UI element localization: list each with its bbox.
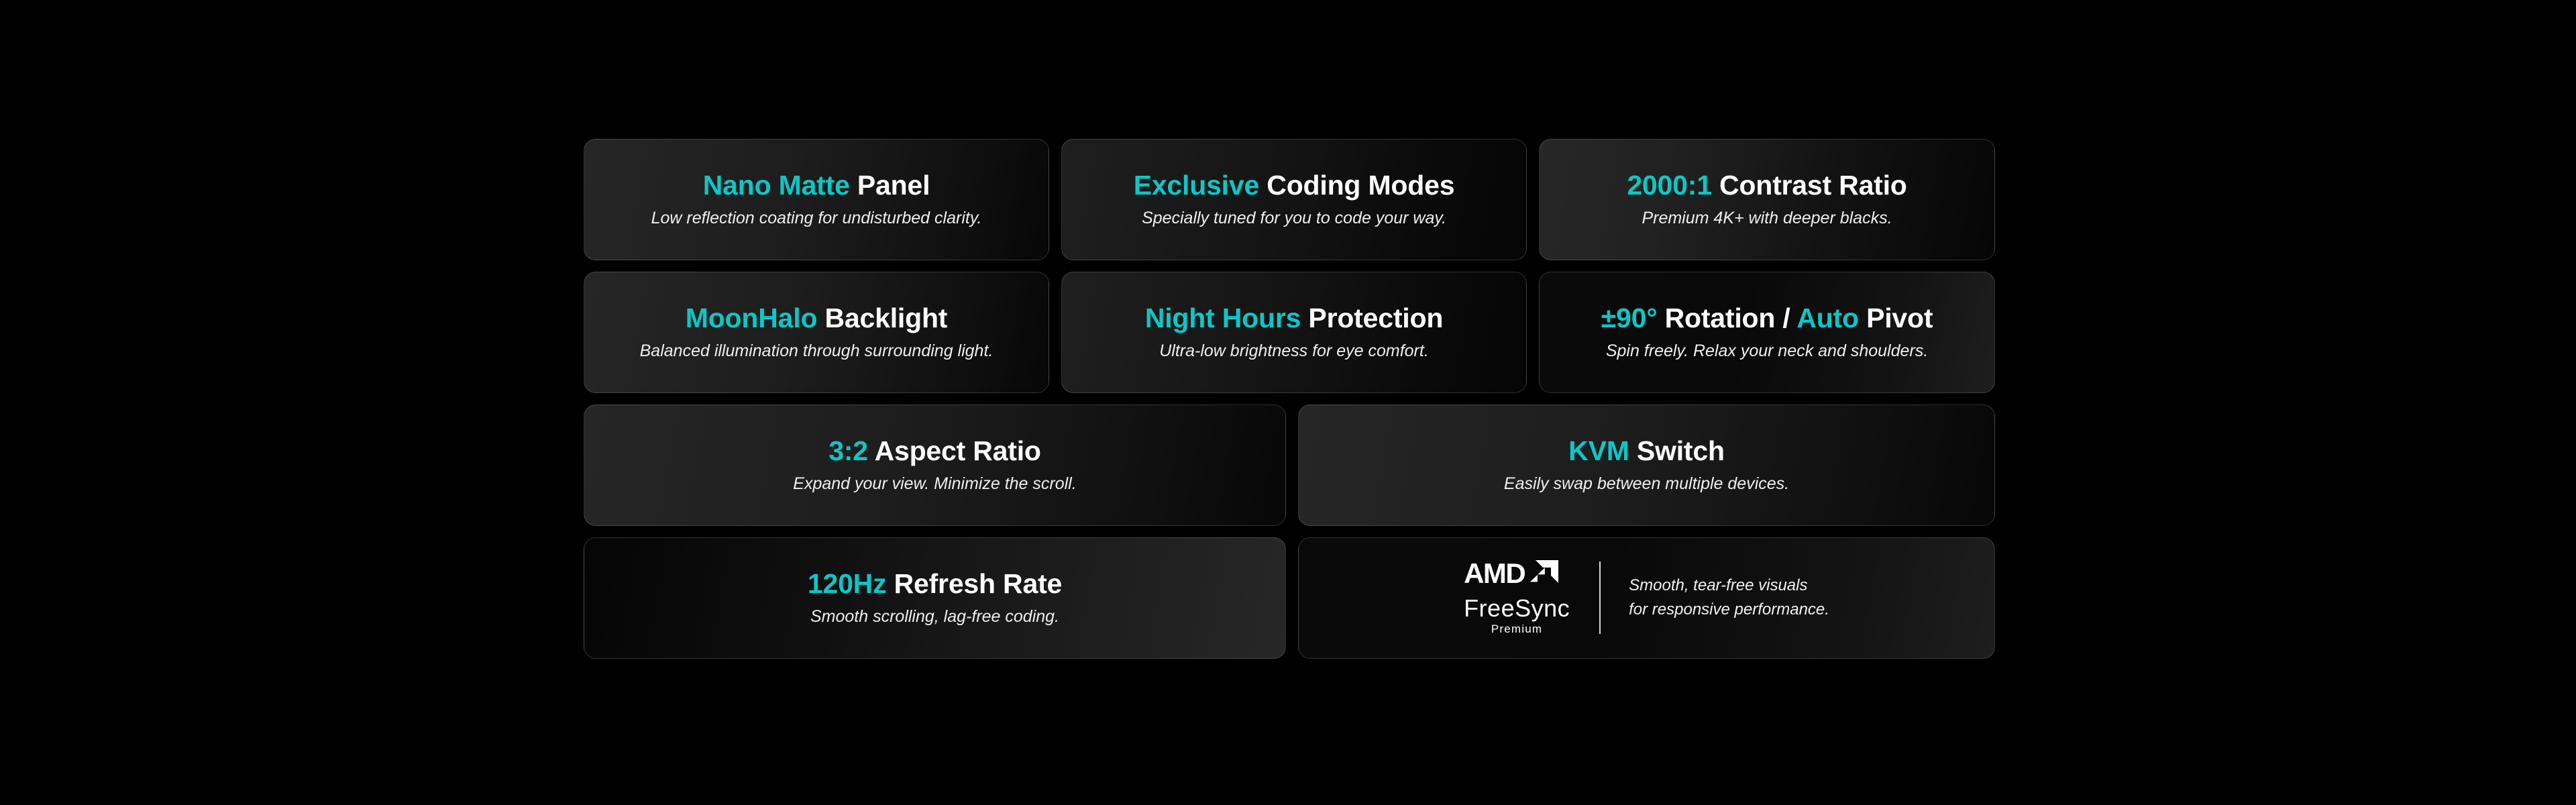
feature-title: ±90° Rotation / Auto Pivot xyxy=(1601,304,1933,333)
amd-description-line-1: Smooth, tear-free visuals xyxy=(1629,574,1829,598)
feature-title-accent: 3:2 xyxy=(828,435,868,466)
feature-subtitle: Low reflection coating for undisturbed c… xyxy=(651,209,982,228)
feature-title-rest: Coding Modes xyxy=(1267,170,1454,201)
feature-title-rest: Aspect Ratio xyxy=(875,435,1041,466)
feature-subtitle: Balanced illumination through surroundin… xyxy=(640,341,994,361)
feature-subtitle: Easily swap between multiple devices. xyxy=(1504,474,1789,494)
feature-card-refresh-rate[interactable]: 120Hz Refresh Rate Smooth scrolling, lag… xyxy=(584,537,1286,659)
feature-title-accent: Night Hours xyxy=(1145,303,1301,333)
feature-card-amd-freesync-premium[interactable]: AMD FreeSync Premium xyxy=(1298,537,1995,659)
feature-title-accent: 120Hz xyxy=(808,568,887,599)
feature-subtitle: Ultra-low brightness for eye comfort. xyxy=(1159,341,1429,361)
feature-title-rest: Contrast Ratio xyxy=(1719,170,1907,201)
feature-title-rest: Protection xyxy=(1308,303,1443,333)
feature-card-contrast-ratio[interactable]: 2000:1 Contrast Ratio Premium 4K+ with d… xyxy=(1539,139,1995,260)
feature-title: KVM Switch xyxy=(1568,437,1725,466)
feature-subtitle: Specially tuned for you to code your way… xyxy=(1142,209,1446,228)
feature-title: MoonHalo Backlight xyxy=(686,304,948,333)
feature-title-rest: Panel xyxy=(857,170,930,201)
feature-title-rest: Switch xyxy=(1637,435,1725,466)
feature-card-grid: Nano Matte Panel Low reflection coating … xyxy=(584,139,1995,659)
feature-title-rest: Backlight xyxy=(825,303,948,333)
feature-card-night-hours-protection[interactable]: Night Hours Protection Ultra-low brightn… xyxy=(1061,272,1527,393)
feature-title-mid: Rotation / xyxy=(1665,303,1790,333)
feature-card-moonhalo-backlight[interactable]: MoonHalo Backlight Balanced illumination… xyxy=(584,272,1049,393)
feature-title-accent: MoonHalo xyxy=(686,303,818,333)
feature-card-aspect-ratio[interactable]: 3:2 Aspect Ratio Expand your view. Minim… xyxy=(584,405,1286,526)
feature-title-rest: Refresh Rate xyxy=(894,568,1063,599)
feature-title: 3:2 Aspect Ratio xyxy=(828,437,1041,466)
feature-title: Exclusive Coding Modes xyxy=(1134,171,1455,200)
feature-subtitle: Expand your view. Minimize the scroll. xyxy=(793,474,1076,494)
amd-wordmark: AMD xyxy=(1464,560,1525,587)
feature-subtitle: Premium 4K+ with deeper blacks. xyxy=(1642,209,1892,228)
amd-tier-label: Premium xyxy=(1491,623,1542,636)
feature-title: 2000:1 Contrast Ratio xyxy=(1627,171,1907,200)
feature-title-rest: Pivot xyxy=(1866,303,1933,333)
amd-product-name: FreeSync xyxy=(1464,594,1570,622)
feature-title-accent: 2000:1 xyxy=(1627,170,1711,201)
feature-row-3: 3:2 Aspect Ratio Expand your view. Minim… xyxy=(584,405,1995,526)
feature-row-1: Nano Matte Panel Low reflection coating … xyxy=(584,139,1995,260)
amd-brand-row: AMD xyxy=(1464,560,1558,593)
feature-grid-page: Nano Matte Panel Low reflection coating … xyxy=(0,0,2576,805)
amd-freesync-logo: AMD FreeSync Premium xyxy=(1464,560,1599,636)
feature-title-accent: Nano Matte xyxy=(703,170,850,201)
feature-title-accent: Exclusive xyxy=(1134,170,1259,201)
feature-row-4: 120Hz Refresh Rate Smooth scrolling, lag… xyxy=(584,537,1995,659)
amd-arrow-icon xyxy=(1529,560,1558,593)
feature-card-nano-matte-panel[interactable]: Nano Matte Panel Low reflection coating … xyxy=(584,139,1049,260)
amd-card-content: AMD FreeSync Premium xyxy=(1464,560,1829,636)
feature-subtitle: Spin freely. Relax your neck and shoulde… xyxy=(1606,341,1928,361)
feature-card-rotation-auto-pivot[interactable]: ±90° Rotation / Auto Pivot Spin freely. … xyxy=(1539,272,1995,393)
feature-card-kvm-switch[interactable]: KVM Switch Easily swap between multiple … xyxy=(1298,405,1995,526)
feature-title-accent: ±90° xyxy=(1601,303,1658,333)
feature-title: Nano Matte Panel xyxy=(703,171,930,200)
feature-title: 120Hz Refresh Rate xyxy=(808,570,1062,598)
amd-description: Smooth, tear-free visuals for responsive… xyxy=(1601,574,1829,622)
amd-description-line-2: for responsive performance. xyxy=(1629,598,1829,622)
feature-title: Night Hours Protection xyxy=(1145,304,1443,333)
feature-title-accent-2: Auto xyxy=(1796,303,1859,333)
feature-row-2: MoonHalo Backlight Balanced illumination… xyxy=(584,272,1995,393)
feature-subtitle: Smooth scrolling, lag-free coding. xyxy=(810,607,1059,627)
feature-card-exclusive-coding-modes[interactable]: Exclusive Coding Modes Specially tuned f… xyxy=(1061,139,1527,260)
feature-title-accent: KVM xyxy=(1568,435,1629,466)
